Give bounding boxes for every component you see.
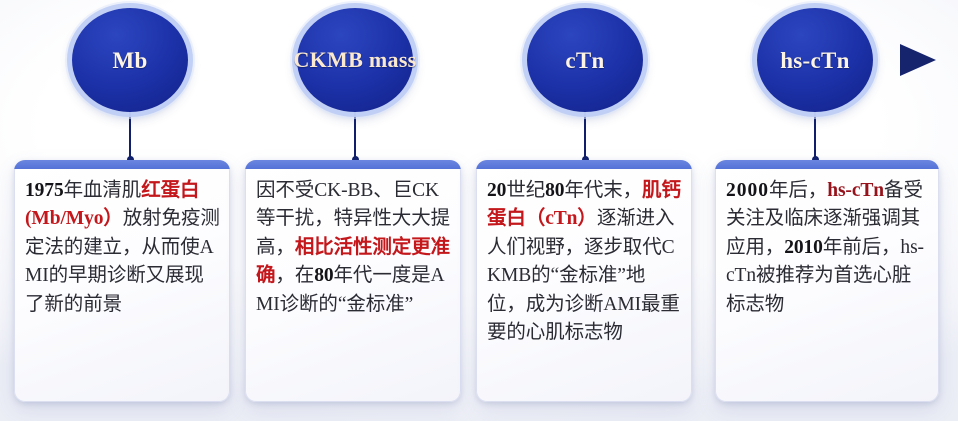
timeline-diagram: Mb CKMB mass cTn hs-cTn 1975年血清肌红蛋白(Mb/M…: [0, 0, 958, 421]
timeline-card-hsctn: 2000年后，hs-cTn备受关注及临床逐渐强调其应用，2010年前后，hs-c…: [715, 160, 939, 402]
timeline-node-label: cTn: [565, 49, 604, 72]
timeline-card-mb: 1975年血清肌红蛋白(Mb/Myo）放射免疫测定法的建立，从而使AMI的早期诊…: [14, 160, 230, 402]
timeline-card-ctn: 20世纪80年代末，肌钙蛋白（cTn）逐渐进入人们视野，逐步取代CKMB的“金标…: [476, 160, 692, 402]
card-text: 因不受CK-BB、巨CK等干扰，特异性大大提高，相比活性测定更准确，在80年代一…: [245, 169, 461, 325]
card-text: 20世纪80年代末，肌钙蛋白（cTn）逐渐进入人们视野，逐步取代CKMB的“金标…: [476, 169, 692, 354]
card-accent-bar: [476, 160, 692, 169]
timeline-node-ctn[interactable]: cTn: [527, 8, 643, 112]
card-accent-bar: [715, 160, 939, 169]
card-text: 1975年血清肌红蛋白(Mb/Myo）放射免疫测定法的建立，从而使AMI的早期诊…: [14, 169, 230, 325]
timeline-node-mb[interactable]: Mb: [72, 8, 188, 112]
card-accent-bar: [245, 160, 461, 169]
timeline-card-ckmb: 因不受CK-BB、巨CK等干扰，特异性大大提高，相比活性测定更准确，在80年代一…: [245, 160, 461, 402]
card-accent-bar: [14, 160, 230, 169]
timeline-node-hs-ctn[interactable]: hs-cTn: [757, 8, 873, 112]
card-text: 2000年后，hs-cTn备受关注及临床逐渐强调其应用，2010年前后，hs-c…: [715, 169, 939, 325]
timeline-node-label: CKMB mass: [293, 49, 416, 71]
timeline-node-ckmb-mass[interactable]: CKMB mass: [297, 8, 413, 112]
timeline-node-label: hs-cTn: [780, 49, 850, 72]
timeline-node-label: Mb: [112, 49, 147, 72]
